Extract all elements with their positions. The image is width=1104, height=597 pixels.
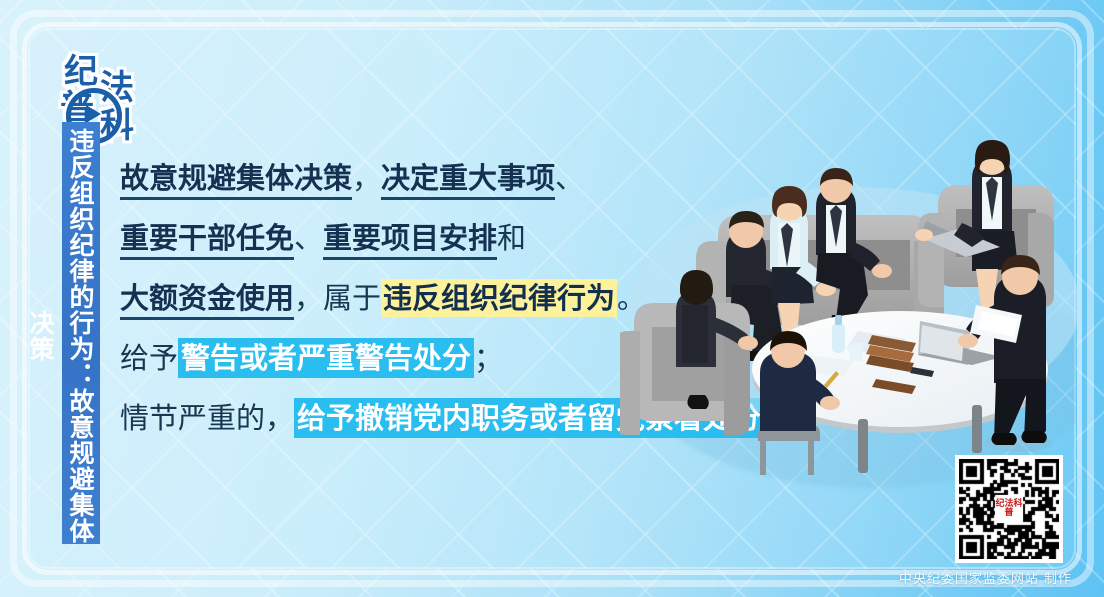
poster-root: 纪 法 普 科 违反组织纪律的行为：故意规避集体决策 故意规避集体决策，决定重大… xyxy=(0,0,1104,597)
text-segment: 警告或者严重警告处分 xyxy=(178,338,474,378)
text-segment: ； xyxy=(474,341,503,375)
text-segment: 情节严重的， xyxy=(120,401,294,435)
play-triangle-icon xyxy=(86,105,101,123)
text-segment: 给予 xyxy=(120,341,178,375)
text-segment: 和 xyxy=(497,221,526,255)
vertical-title-banner: 违反组织纪律的行为：故意规避集体决策 xyxy=(62,122,100,544)
text-segment: ，属于 xyxy=(294,281,381,315)
text-segment: 故意规避集体决策 xyxy=(120,161,352,200)
text-segment: ， xyxy=(352,161,381,195)
text-segment: 、 xyxy=(555,161,584,195)
footer-credit: 中央纪委国家监委网站 制作 xyxy=(899,568,1072,587)
qr-center-logo: 纪法科普 xyxy=(995,495,1023,523)
text-segment: 重要干部任免 xyxy=(120,221,294,260)
text-segment: 违反组织纪律行为 xyxy=(381,279,617,317)
qr-center-label: 纪法科普 xyxy=(995,500,1023,518)
text-segment: 大额资金使用 xyxy=(120,281,294,320)
text-segment: 、 xyxy=(294,221,323,255)
text-segment: 重要项目安排 xyxy=(323,221,497,260)
qr-code[interactable]: 纪法科普 xyxy=(955,455,1063,563)
meeting-room-illustration xyxy=(620,55,1090,475)
text-segment: 决定重大事项 xyxy=(381,161,555,200)
